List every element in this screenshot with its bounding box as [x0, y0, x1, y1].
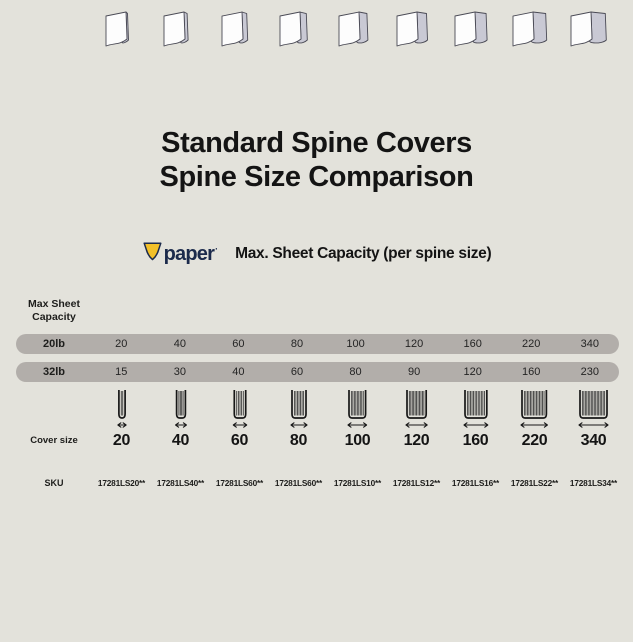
paper-stack-icon — [92, 0, 151, 52]
cell-capacity-20lb: 80 — [268, 334, 327, 354]
cell-sku: 17281LS40** — [151, 474, 210, 492]
paper-stack-icon-row — [92, 0, 623, 52]
cell-cover-size: 100 — [328, 430, 387, 452]
cell-capacity-32lb: 230 — [561, 362, 620, 382]
cell-sku: 17281LS16** — [446, 474, 505, 492]
vpaper-logo: paper · — [142, 241, 218, 267]
row-label-cover-size: Cover size — [16, 435, 92, 447]
v-mark-icon — [142, 241, 163, 267]
spine-width-icon — [328, 386, 387, 432]
cell-cover-size: 80 — [269, 430, 328, 452]
cell-sku: 17281LS10** — [328, 474, 387, 492]
max-sheet-capacity-line1: Max Sheet — [14, 298, 94, 311]
capacity-row-32lb: 32lb 153040608090120160230 — [0, 362, 633, 382]
logo-trademark: · — [215, 245, 218, 254]
cell-capacity-20lb: 100 — [326, 334, 385, 354]
paper-stack-icon — [505, 0, 564, 52]
spine-width-icon — [505, 386, 564, 432]
spine-width-icon — [446, 386, 505, 432]
page-title: Standard Spine Covers Spine Size Compari… — [0, 126, 633, 194]
cell-cover-size: 340 — [564, 430, 623, 452]
spine-icon-row — [92, 386, 623, 432]
cell-capacity-20lb: 60 — [209, 334, 268, 354]
cell-cover-size: 120 — [387, 430, 446, 452]
cell-capacity-20lb: 40 — [151, 334, 210, 354]
logo-wordmark: paper — [164, 244, 214, 264]
paper-stack-icon — [328, 0, 387, 52]
spine-width-icon — [564, 386, 623, 432]
cell-cover-size: 40 — [151, 430, 210, 452]
row-cells-20lb: 20406080100120160220340 — [92, 334, 619, 354]
cell-cover-size: 60 — [210, 430, 269, 452]
spine-width-icon — [210, 386, 269, 432]
cell-capacity-32lb: 80 — [326, 362, 385, 382]
paper-stack-icon — [210, 0, 269, 52]
spine-width-icon — [151, 386, 210, 432]
brand-and-subtitle: paper · Max. Sheet Capacity (per spine s… — [0, 241, 633, 267]
paper-stack-icon — [564, 0, 623, 52]
paper-stack-icon — [387, 0, 446, 52]
cell-capacity-20lb: 20 — [92, 334, 151, 354]
title-line-1: Standard Spine Covers — [0, 126, 633, 160]
cell-sku: 17281LS60** — [269, 474, 328, 492]
paper-stack-icon — [151, 0, 210, 52]
paper-stack-icon — [269, 0, 328, 52]
cell-capacity-32lb: 60 — [268, 362, 327, 382]
cell-sku: 17281LS12** — [387, 474, 446, 492]
cell-capacity-32lb: 90 — [385, 362, 444, 382]
sku-row: SKU 17281LS20**17281LS40**17281LS60**172… — [0, 474, 633, 492]
cell-sku: 17281LS20** — [92, 474, 151, 492]
cell-cover-size: 160 — [446, 430, 505, 452]
spine-width-icon — [92, 386, 151, 432]
spine-width-icon — [269, 386, 328, 432]
capacity-row-20lb: 20lb 20406080100120160220340 — [0, 334, 633, 354]
row-cells-cover-size: 20406080100120160220340 — [92, 430, 623, 452]
cell-sku: 17281LS60** — [210, 474, 269, 492]
title-line-2: Spine Size Comparison — [0, 160, 633, 194]
max-sheet-capacity-line2: Capacity — [14, 311, 94, 324]
row-cells-sku: 17281LS20**17281LS40**17281LS60**17281LS… — [92, 474, 623, 492]
cell-capacity-32lb: 160 — [502, 362, 561, 382]
cell-capacity-20lb: 340 — [561, 334, 620, 354]
paper-stack-icon — [446, 0, 505, 52]
row-label-32lb: 32lb — [16, 366, 92, 378]
cell-cover-size: 20 — [92, 430, 151, 452]
cell-capacity-32lb: 15 — [92, 362, 151, 382]
row-label-sku: SKU — [16, 477, 92, 489]
spine-width-icon — [387, 386, 446, 432]
cell-capacity-20lb: 160 — [443, 334, 502, 354]
row-label-20lb: 20lb — [16, 338, 92, 350]
cover-size-row: Cover size 20406080100120160220340 — [0, 430, 633, 452]
cell-capacity-20lb: 220 — [502, 334, 561, 354]
row-cells-32lb: 153040608090120160230 — [92, 362, 619, 382]
cell-capacity-32lb: 40 — [209, 362, 268, 382]
cell-capacity-32lb: 30 — [151, 362, 210, 382]
cell-capacity-20lb: 120 — [385, 334, 444, 354]
cell-sku: 17281LS22** — [505, 474, 564, 492]
subtitle: Max. Sheet Capacity (per spine size) — [235, 245, 491, 263]
cell-capacity-32lb: 120 — [443, 362, 502, 382]
cell-sku: 17281LS34** — [564, 474, 623, 492]
max-sheet-capacity-label: Max Sheet Capacity — [14, 298, 94, 324]
cell-cover-size: 220 — [505, 430, 564, 452]
